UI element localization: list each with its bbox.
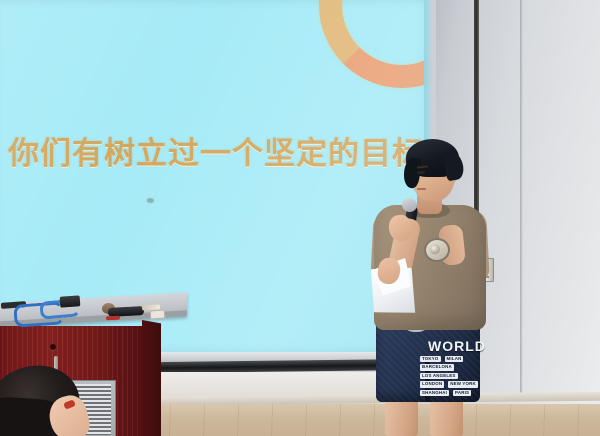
shorts-city: LONDON	[420, 381, 444, 387]
shorts-city: SHANGHAI	[420, 390, 449, 396]
podium-item-black-connector	[60, 295, 81, 307]
presentation-photo: 你们有树立过一个坚定的目标吗？ WORLD TOKYO MILAN BARCEL…	[0, 0, 600, 436]
podium-knob	[50, 344, 56, 350]
speaker-eye	[417, 171, 425, 174]
podium-item-name-card	[150, 309, 166, 319]
shorts-city: MILAN	[445, 356, 464, 362]
wall-seam-light	[520, 0, 523, 398]
podium-item-red-marker	[106, 316, 120, 321]
slide-title: 你们有树立过一个坚定的目标吗？	[8, 128, 418, 173]
screen-speck	[147, 198, 154, 203]
shorts-city: BARCELONA	[420, 364, 454, 370]
shorts-city: LOS ANGELES	[420, 373, 458, 379]
slide-ring-decoration	[319, 0, 432, 88]
podium-side-panel	[142, 320, 161, 436]
shorts-city-list: TOKYO MILAN BARCELONA LOS ANGELES LONDON…	[420, 356, 478, 396]
shorts-city: TOKYO	[420, 356, 441, 362]
shorts-city: NEW YORK	[448, 381, 478, 387]
shorts-city: PARIS	[453, 390, 471, 396]
shorts-headline-text: WORLD	[428, 338, 486, 354]
speaker-mouth	[417, 188, 426, 190]
